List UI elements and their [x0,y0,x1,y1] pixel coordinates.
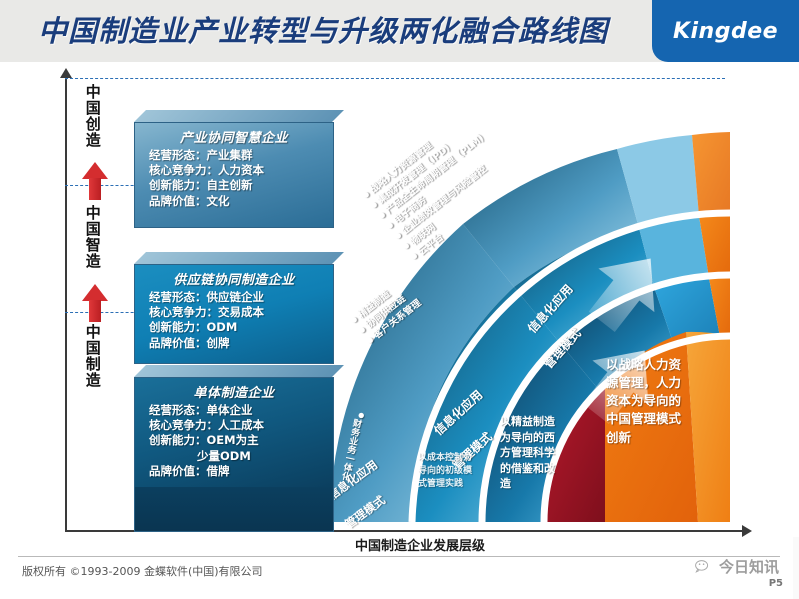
panel-text-light-orange: 以战略人力资源管理，人力资本为导向的中国管理模式创新 [606,356,692,447]
box-attr: 核心竞争力：交易成本 [135,305,333,320]
watermark-text: 今日知讯 [719,556,779,577]
x-axis-label: 中国制造企业发展层级 [355,535,485,554]
box-side-face [122,116,134,128]
gridline-top [65,78,725,79]
box-attr: 经营形态：产业集群 [135,148,333,163]
box-front-face: 单体制造企业 经营形态：单体企业 核心竞争力：人工成本 创新能力：OEM为主 少… [134,377,334,489]
panel-text-red: 以成本控制为导向的初级模式管理实践 [418,452,476,491]
box-attr: 核心竞争力：人力资本 [135,163,333,178]
y-axis [65,77,67,532]
box-side-face [122,258,134,270]
box-attr: 创新能力：ODM [135,320,333,335]
box-front-face: 产业协同智慧企业 经营形态：产业集群 核心竞争力：人力资本 创新能力：自主创新 … [134,122,334,228]
slide-root: 中国制造业产业转型与升级两化融合路线图 Kingdee 中国制造企业发展层级 中… [0,0,799,599]
concentric-arc-graphic: 战略人力资源管理 集成开发管理（IPD） 产品全生命周期管理（PLM） 电子商务… [300,92,760,532]
box-attr: 创新能力：OEM为主 [135,433,333,448]
box-top-face [134,110,344,122]
up-arrow-icon-lower [82,284,108,322]
copyright-text: 版权所有 ©1993-2009 金蝶软件(中国)有限公司 [22,563,263,579]
box-attr: 经营形态：单体企业 [135,403,333,418]
diagram-canvas: 中国制造企业发展层级 中国创造 中国智造 中国制造 [0,62,799,537]
logo-text: Kingdee [673,19,778,44]
watermark: 今日知讯 [694,556,779,577]
box-attr: 品牌价值：文化 [135,194,333,209]
box-attr: 核心竞争力：人工成本 [135,418,333,433]
box-side-face [122,371,134,383]
stage-label-china-intelligence: 中国智造 [84,205,100,269]
stage-label-china-creation: 中国创造 [84,84,100,148]
box-attr: 品牌价值：创牌 [135,336,333,351]
box-attr: 品牌价值：借牌 [135,464,333,479]
box-title: 单体制造企业 [135,378,333,403]
panel-text-orange: 以精益制造为导向的西方管理科学的借鉴和改造 [500,414,562,492]
footer-divider [18,556,780,557]
page-number: P5 [769,578,783,589]
wechat-icon [694,559,714,575]
box-attr: 少量ODM [135,449,333,464]
box-top-face [134,252,344,264]
up-arrow-icon-upper [82,162,108,200]
box-front-face: 供应链协同制造企业 经营形态：供应链企业 核心竞争力：交易成本 创新能力：ODM… [134,264,334,364]
kingdee-logo: Kingdee [652,0,799,62]
stage-label-china-manufacturing: 中国制造 [84,324,100,388]
box-bottom-extension [134,487,334,532]
box-title: 产业协同智慧企业 [135,123,333,148]
y-axis-arrow-icon [60,68,72,78]
slide-header: 中国制造业产业转型与升级两化融合路线图 Kingdee [0,0,799,62]
box-attr: 创新能力：自主创新 [135,178,333,193]
box-title: 供应链协同制造企业 [135,265,333,290]
page-title: 中国制造业产业转型与升级两化融合路线图 [38,8,608,50]
box-top-face [134,365,344,377]
box-attr: 经营形态：供应链企业 [135,290,333,305]
